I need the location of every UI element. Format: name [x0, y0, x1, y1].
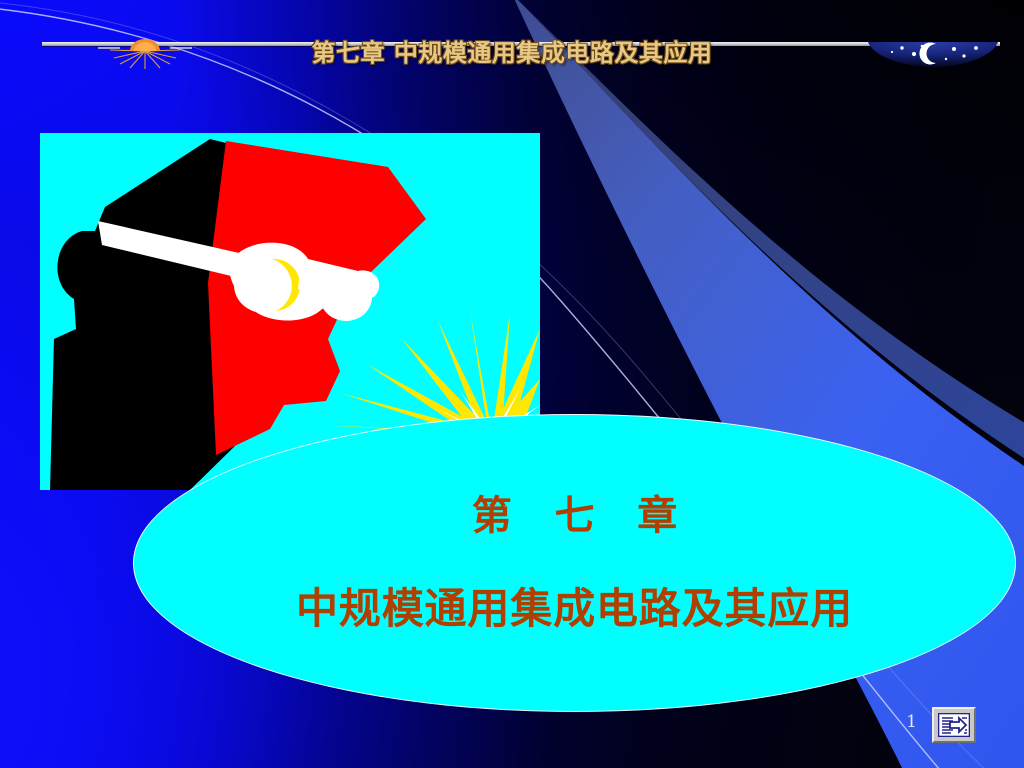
slide-forward-hyperlink-button[interactable]	[932, 707, 976, 743]
slide-forward-hyperlink-icon	[938, 713, 970, 737]
presentation-slide: 第七章 中规模通用集成电路及其应用	[0, 0, 1024, 768]
page-number: 1	[893, 712, 917, 732]
title-oval-line-1: 第 七 章	[457, 496, 691, 536]
page-title: 第七章 中规模通用集成电路及其应用	[0, 33, 1024, 68]
title-oval-line-2: 中规模通用集成电路及其应用	[296, 588, 853, 630]
title-oval-shape: 第 七 章 中规模通用集成电路及其应用	[133, 414, 1016, 712]
